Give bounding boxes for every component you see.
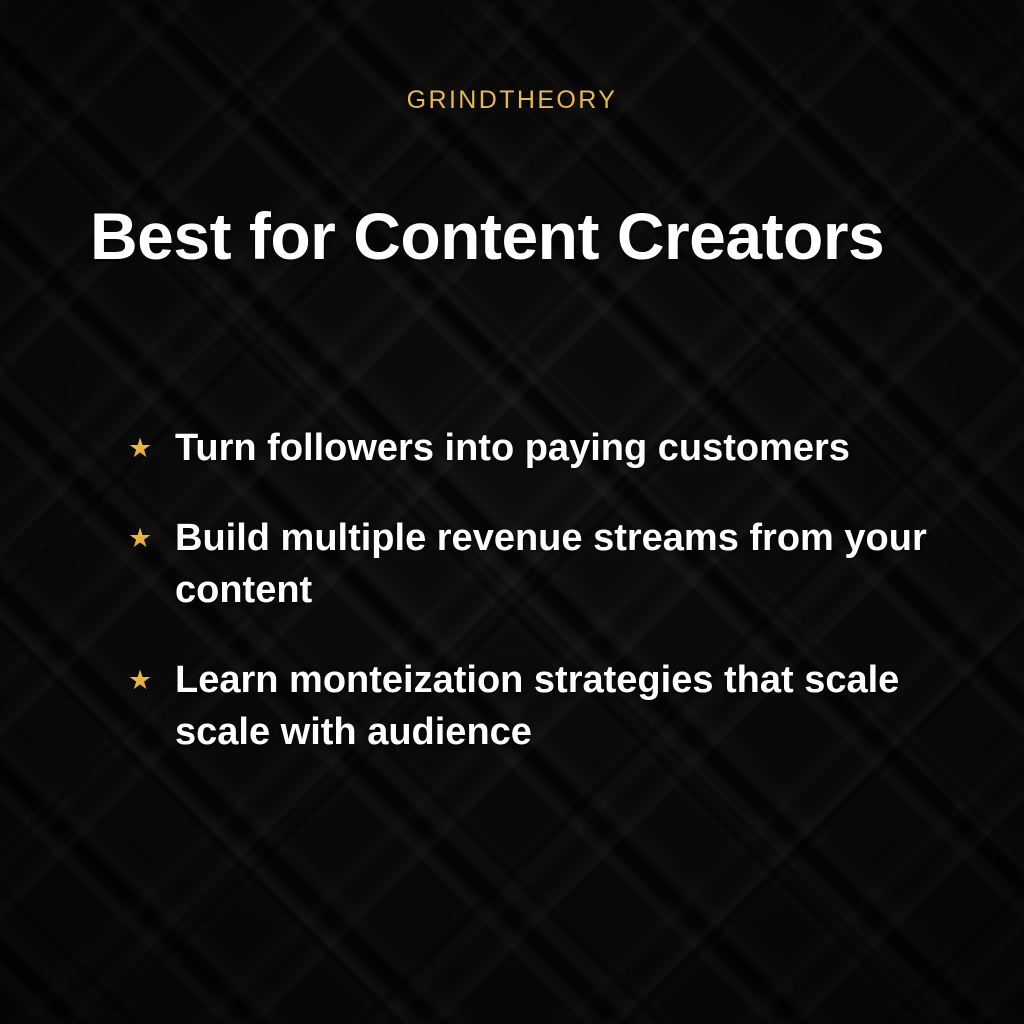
list-item: ★ Turn followers into paying customers: [128, 422, 988, 474]
benefits-list: ★ Turn followers into paying customers ★…: [128, 422, 988, 758]
list-item-label: Turn followers into paying customers: [175, 422, 988, 474]
list-item: ★ Learn monteization strategies that sca…: [128, 654, 988, 758]
star-icon: ★: [128, 422, 158, 474]
list-item: ★ Build multiple revenue streams from yo…: [128, 512, 988, 616]
list-item-label: Build multiple revenue streams from your…: [175, 512, 988, 616]
slide-content: GRINDTHEORY Best for Content Creators ★ …: [0, 0, 1024, 1024]
brand-wordmark: GRINDTHEORY: [0, 86, 1024, 115]
star-icon: ★: [128, 512, 158, 564]
slide-canvas: GRINDTHEORY Best for Content Creators ★ …: [0, 0, 1024, 1024]
list-item-label: Learn monteization strategies that scale…: [175, 654, 988, 758]
star-icon: ★: [128, 654, 158, 706]
page-title: Best for Content Creators: [90, 198, 970, 274]
